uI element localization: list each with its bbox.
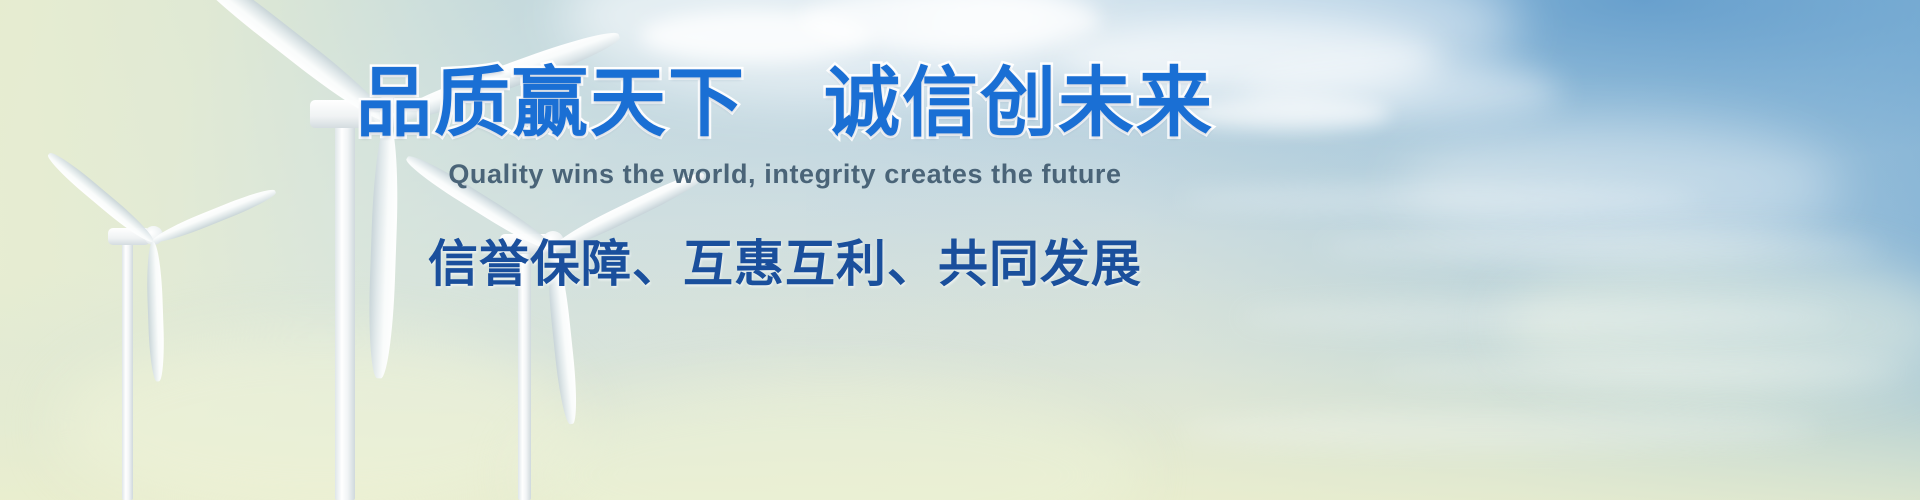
banner-tagline: 信誉保障、互惠互利、共同发展 [428, 224, 1142, 296]
banner-copy: 品质赢天下 诚信创未来 Quality wins the world, inte… [0, 0, 1570, 500]
banner-subline-english: Quality wins the world, integrity create… [448, 159, 1121, 190]
banner-headline: 品质赢天下 诚信创未来 [356, 64, 1214, 145]
promo-banner: 品质赢天下 诚信创未来 Quality wins the world, inte… [0, 0, 1920, 500]
